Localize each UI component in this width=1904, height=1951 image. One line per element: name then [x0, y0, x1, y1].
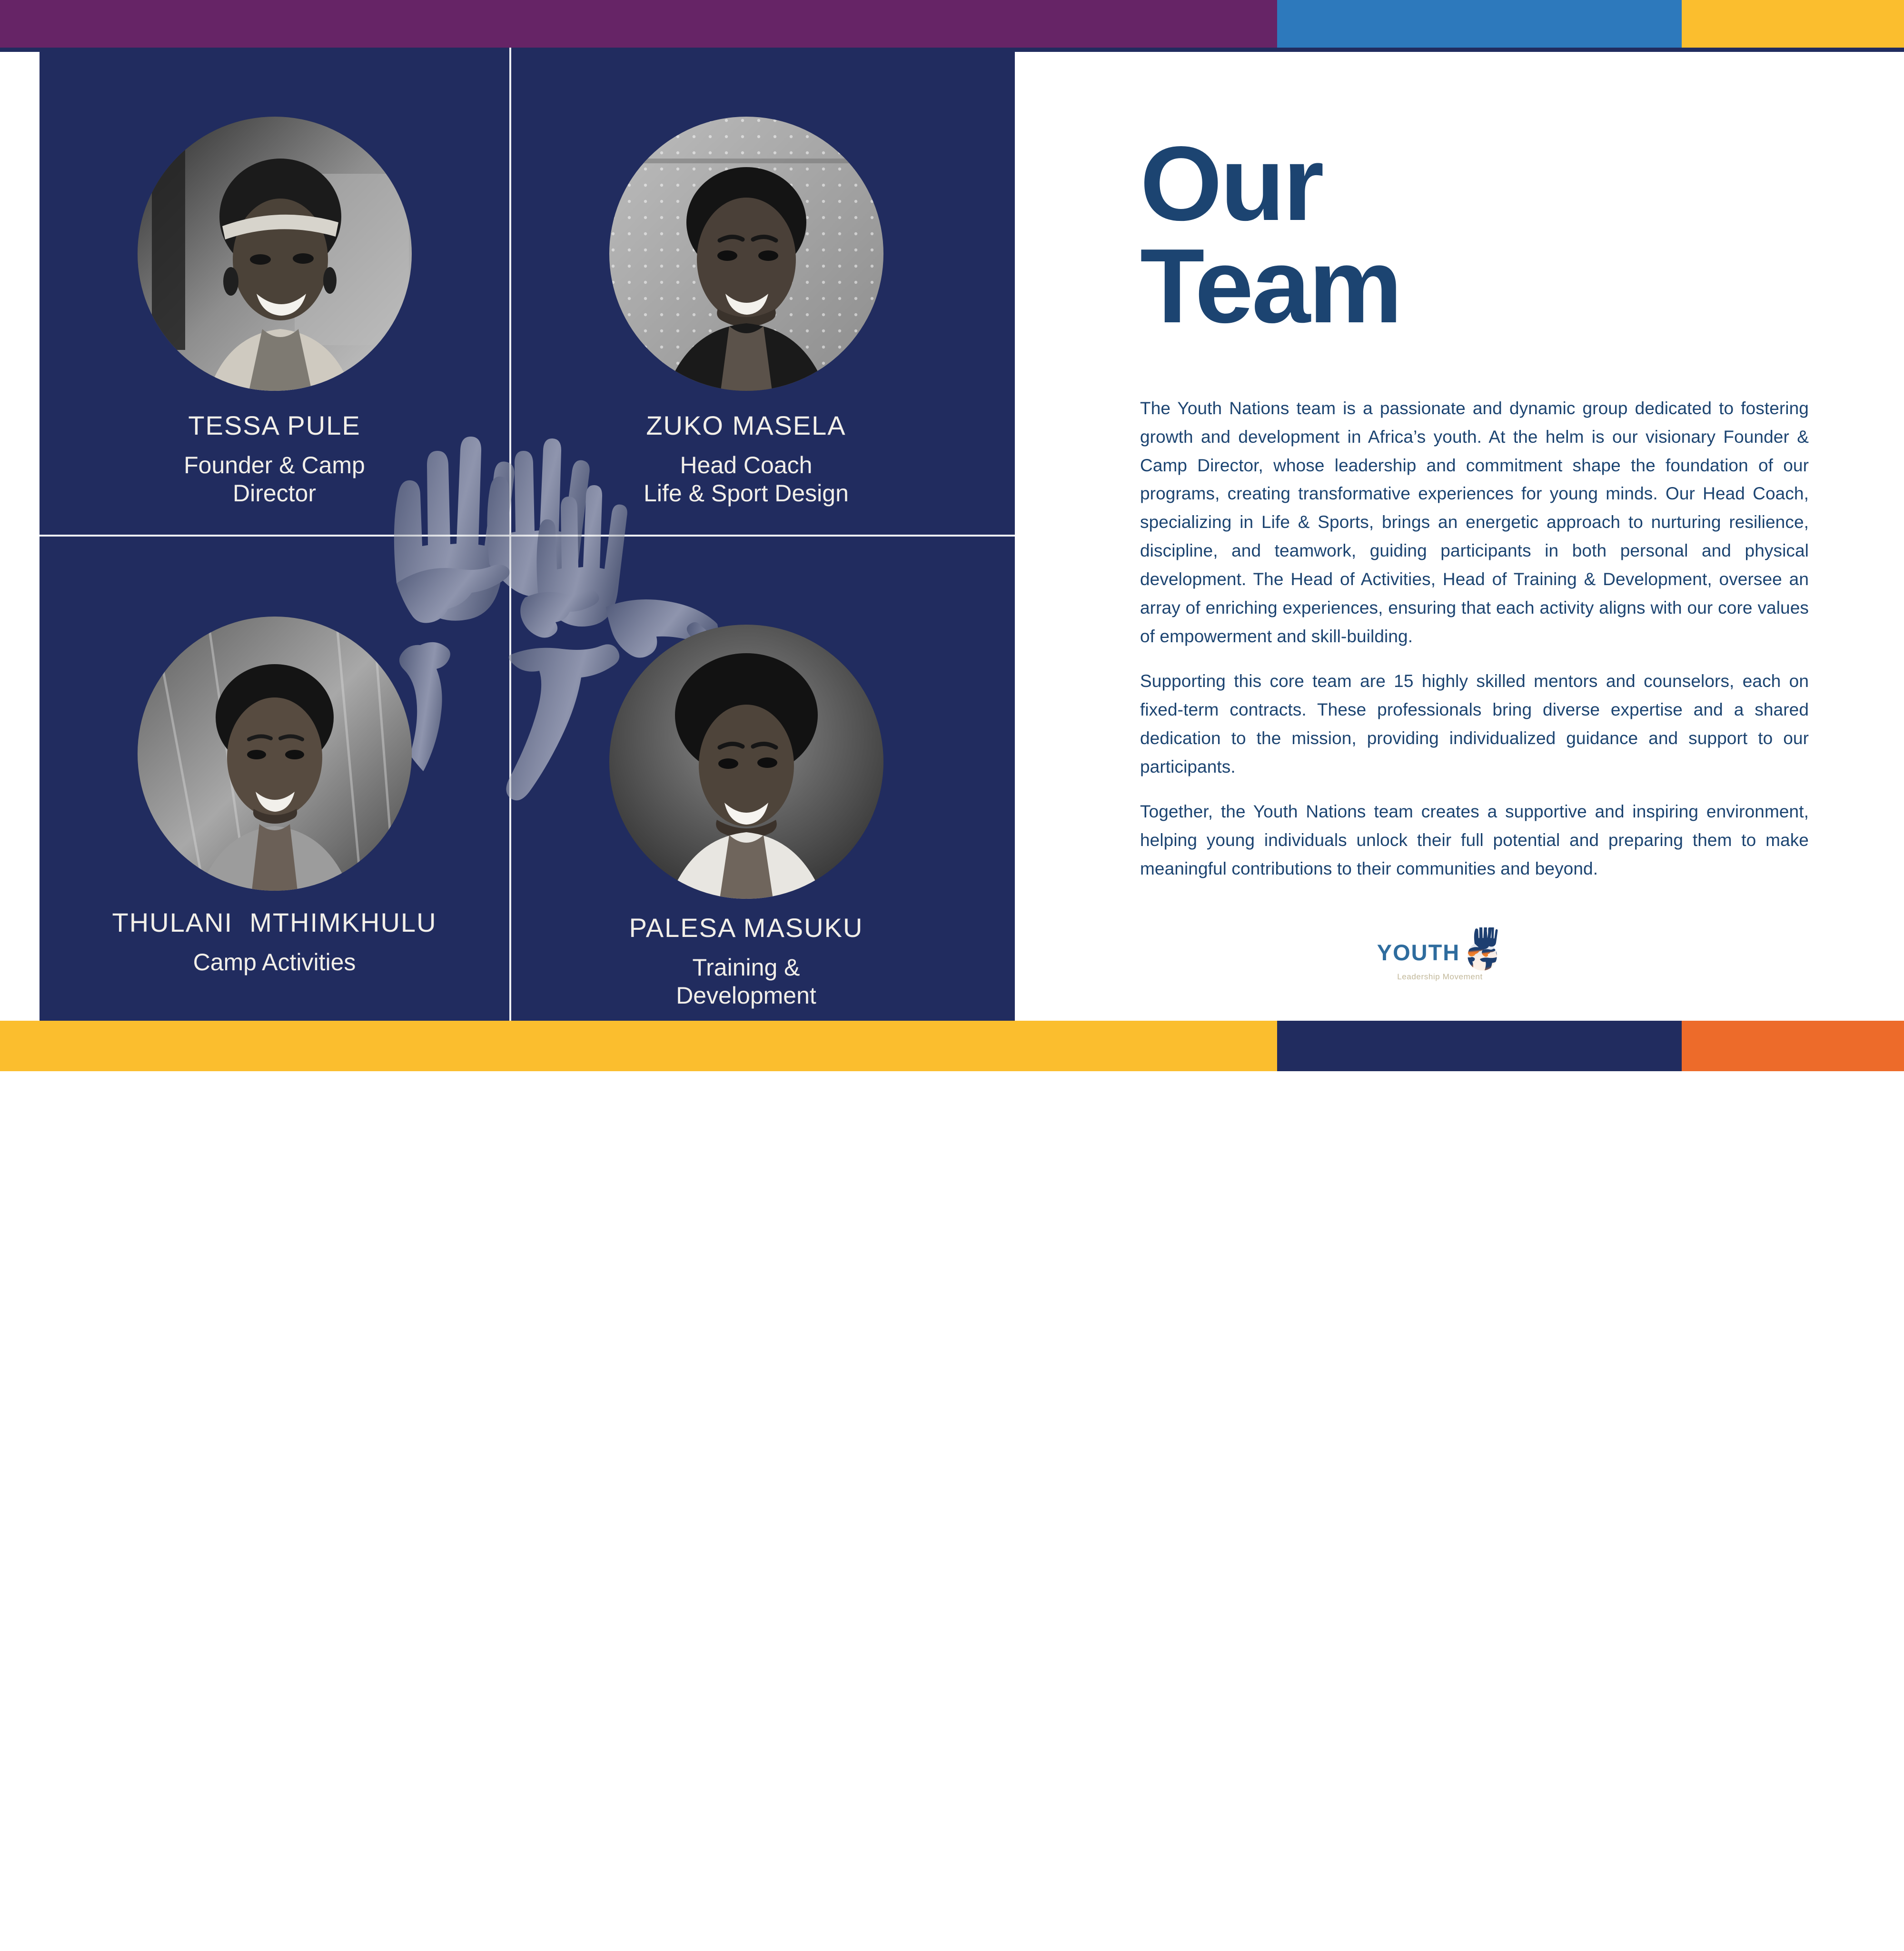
logo-globe-icon — [1462, 927, 1503, 977]
team-member-name: THULANI MTHIMKHULU — [112, 908, 436, 938]
top-color-bar — [0, 0, 1904, 48]
team-member-card[interactable]: ZUKO MASELA Head Coach Life & Sport Desi… — [511, 48, 981, 535]
portrait-tessa-pule — [138, 117, 412, 391]
bottom-color-bar — [0, 1021, 1904, 1071]
content-column: Our Team The Youth Nations team is a pas… — [1140, 52, 1809, 1021]
team-member-role: Founder & Camp Director — [184, 451, 365, 508]
logo-tagline: Leadership Movement — [1397, 972, 1483, 982]
portrait-thulani-mthimkhulu — [138, 617, 412, 891]
team-member-role: Head Coach Life & Sport Design — [644, 451, 849, 508]
team-member-card[interactable]: PALESA MASUKU Training & Development — [511, 537, 981, 1021]
team-member-card[interactable]: TESSA PULE Founder & Camp Director — [40, 48, 509, 535]
youth-nations-globe-logo: YOUTH — [1338, 930, 1542, 995]
bottom-bar-segment-orange — [1682, 1021, 1904, 1071]
bottom-bar-segment-navy — [1277, 1021, 1682, 1071]
top-bar-segment-yellow — [1682, 0, 1904, 48]
logo-word-youth: YOUTH — [1377, 941, 1460, 964]
team-grid-panel: TESSA PULE Founder & Camp Director — [40, 48, 1015, 1021]
team-member-name: TESSA PULE — [188, 411, 360, 441]
team-member-name: ZUKO MASELA — [646, 411, 846, 441]
bottom-bar-segment-yellow — [0, 1021, 1277, 1071]
top-bar-segment-blue — [1277, 0, 1682, 48]
portrait-palesa-masuku — [609, 625, 883, 899]
team-member-card[interactable]: THULANI MTHIMKHULU Camp Activities — [40, 537, 509, 1021]
team-member-role: Training & Development — [676, 954, 816, 1010]
body-copy: The Youth Nations team is a passionate a… — [1140, 394, 1809, 883]
top-bar-segment-purple — [0, 0, 1277, 48]
paragraph-2: Supporting this core team are 15 highly … — [1140, 667, 1809, 781]
paragraph-1: The Youth Nations team is a passionate a… — [1140, 394, 1809, 651]
team-member-role: Camp Activities — [193, 948, 356, 976]
paragraph-3: Together, the Youth Nations team creates… — [1140, 797, 1809, 883]
team-member-name: PALESA MASUKU — [629, 913, 863, 943]
page-title: Our Team — [1140, 133, 1809, 338]
portrait-zuko-masela — [609, 117, 883, 391]
